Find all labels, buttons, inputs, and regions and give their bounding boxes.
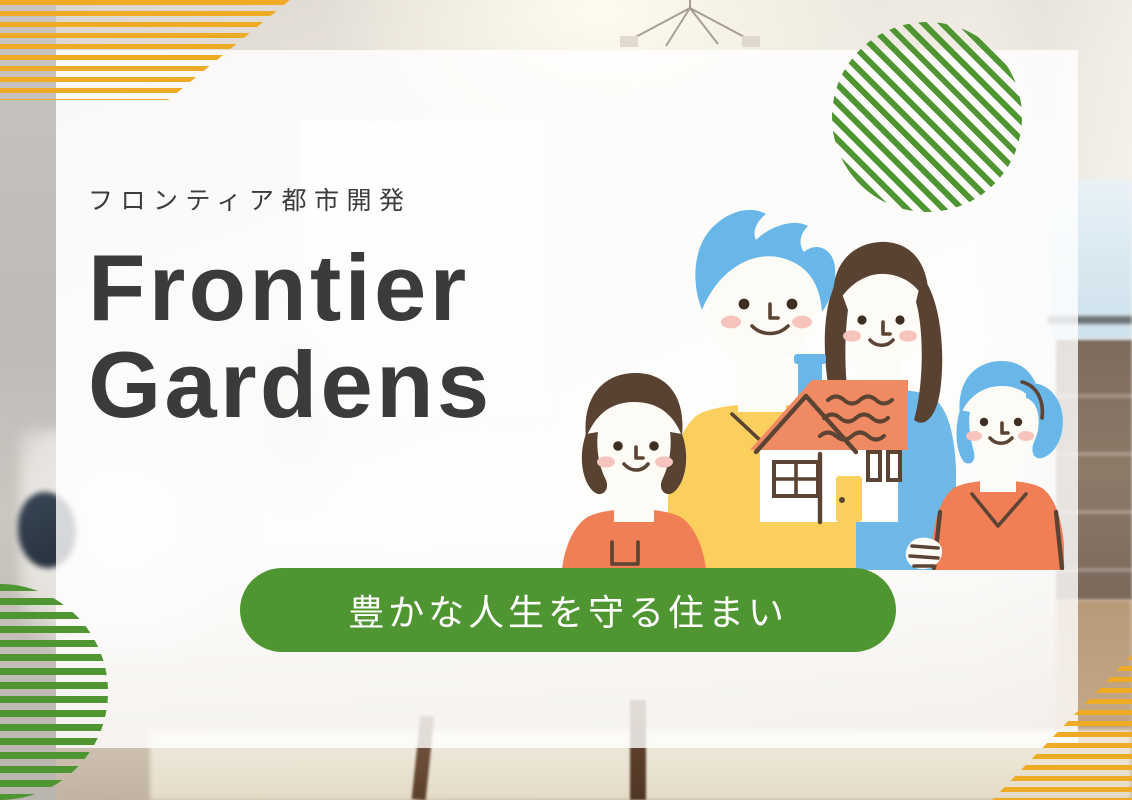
eyebrow-text: フロンティア都市開発 (88, 186, 708, 216)
cta-button[interactable]: 豊かな人生を守る住まい (240, 568, 896, 652)
background-chandelier-icon (600, 0, 800, 52)
cta-button-label: 豊かな人生を守る住まい (348, 584, 788, 636)
banner-canvas: .ln { fill:none; stroke:#5b4434; stroke-… (0, 0, 1132, 800)
headline-line-2: Gardens (88, 337, 708, 434)
headline-line-1: Frontier (88, 240, 708, 337)
headline-block: フロンティア都市開発 Frontier Gardens (88, 186, 708, 434)
page-title: Frontier Gardens (88, 240, 708, 434)
background-left-wall (0, 0, 56, 800)
